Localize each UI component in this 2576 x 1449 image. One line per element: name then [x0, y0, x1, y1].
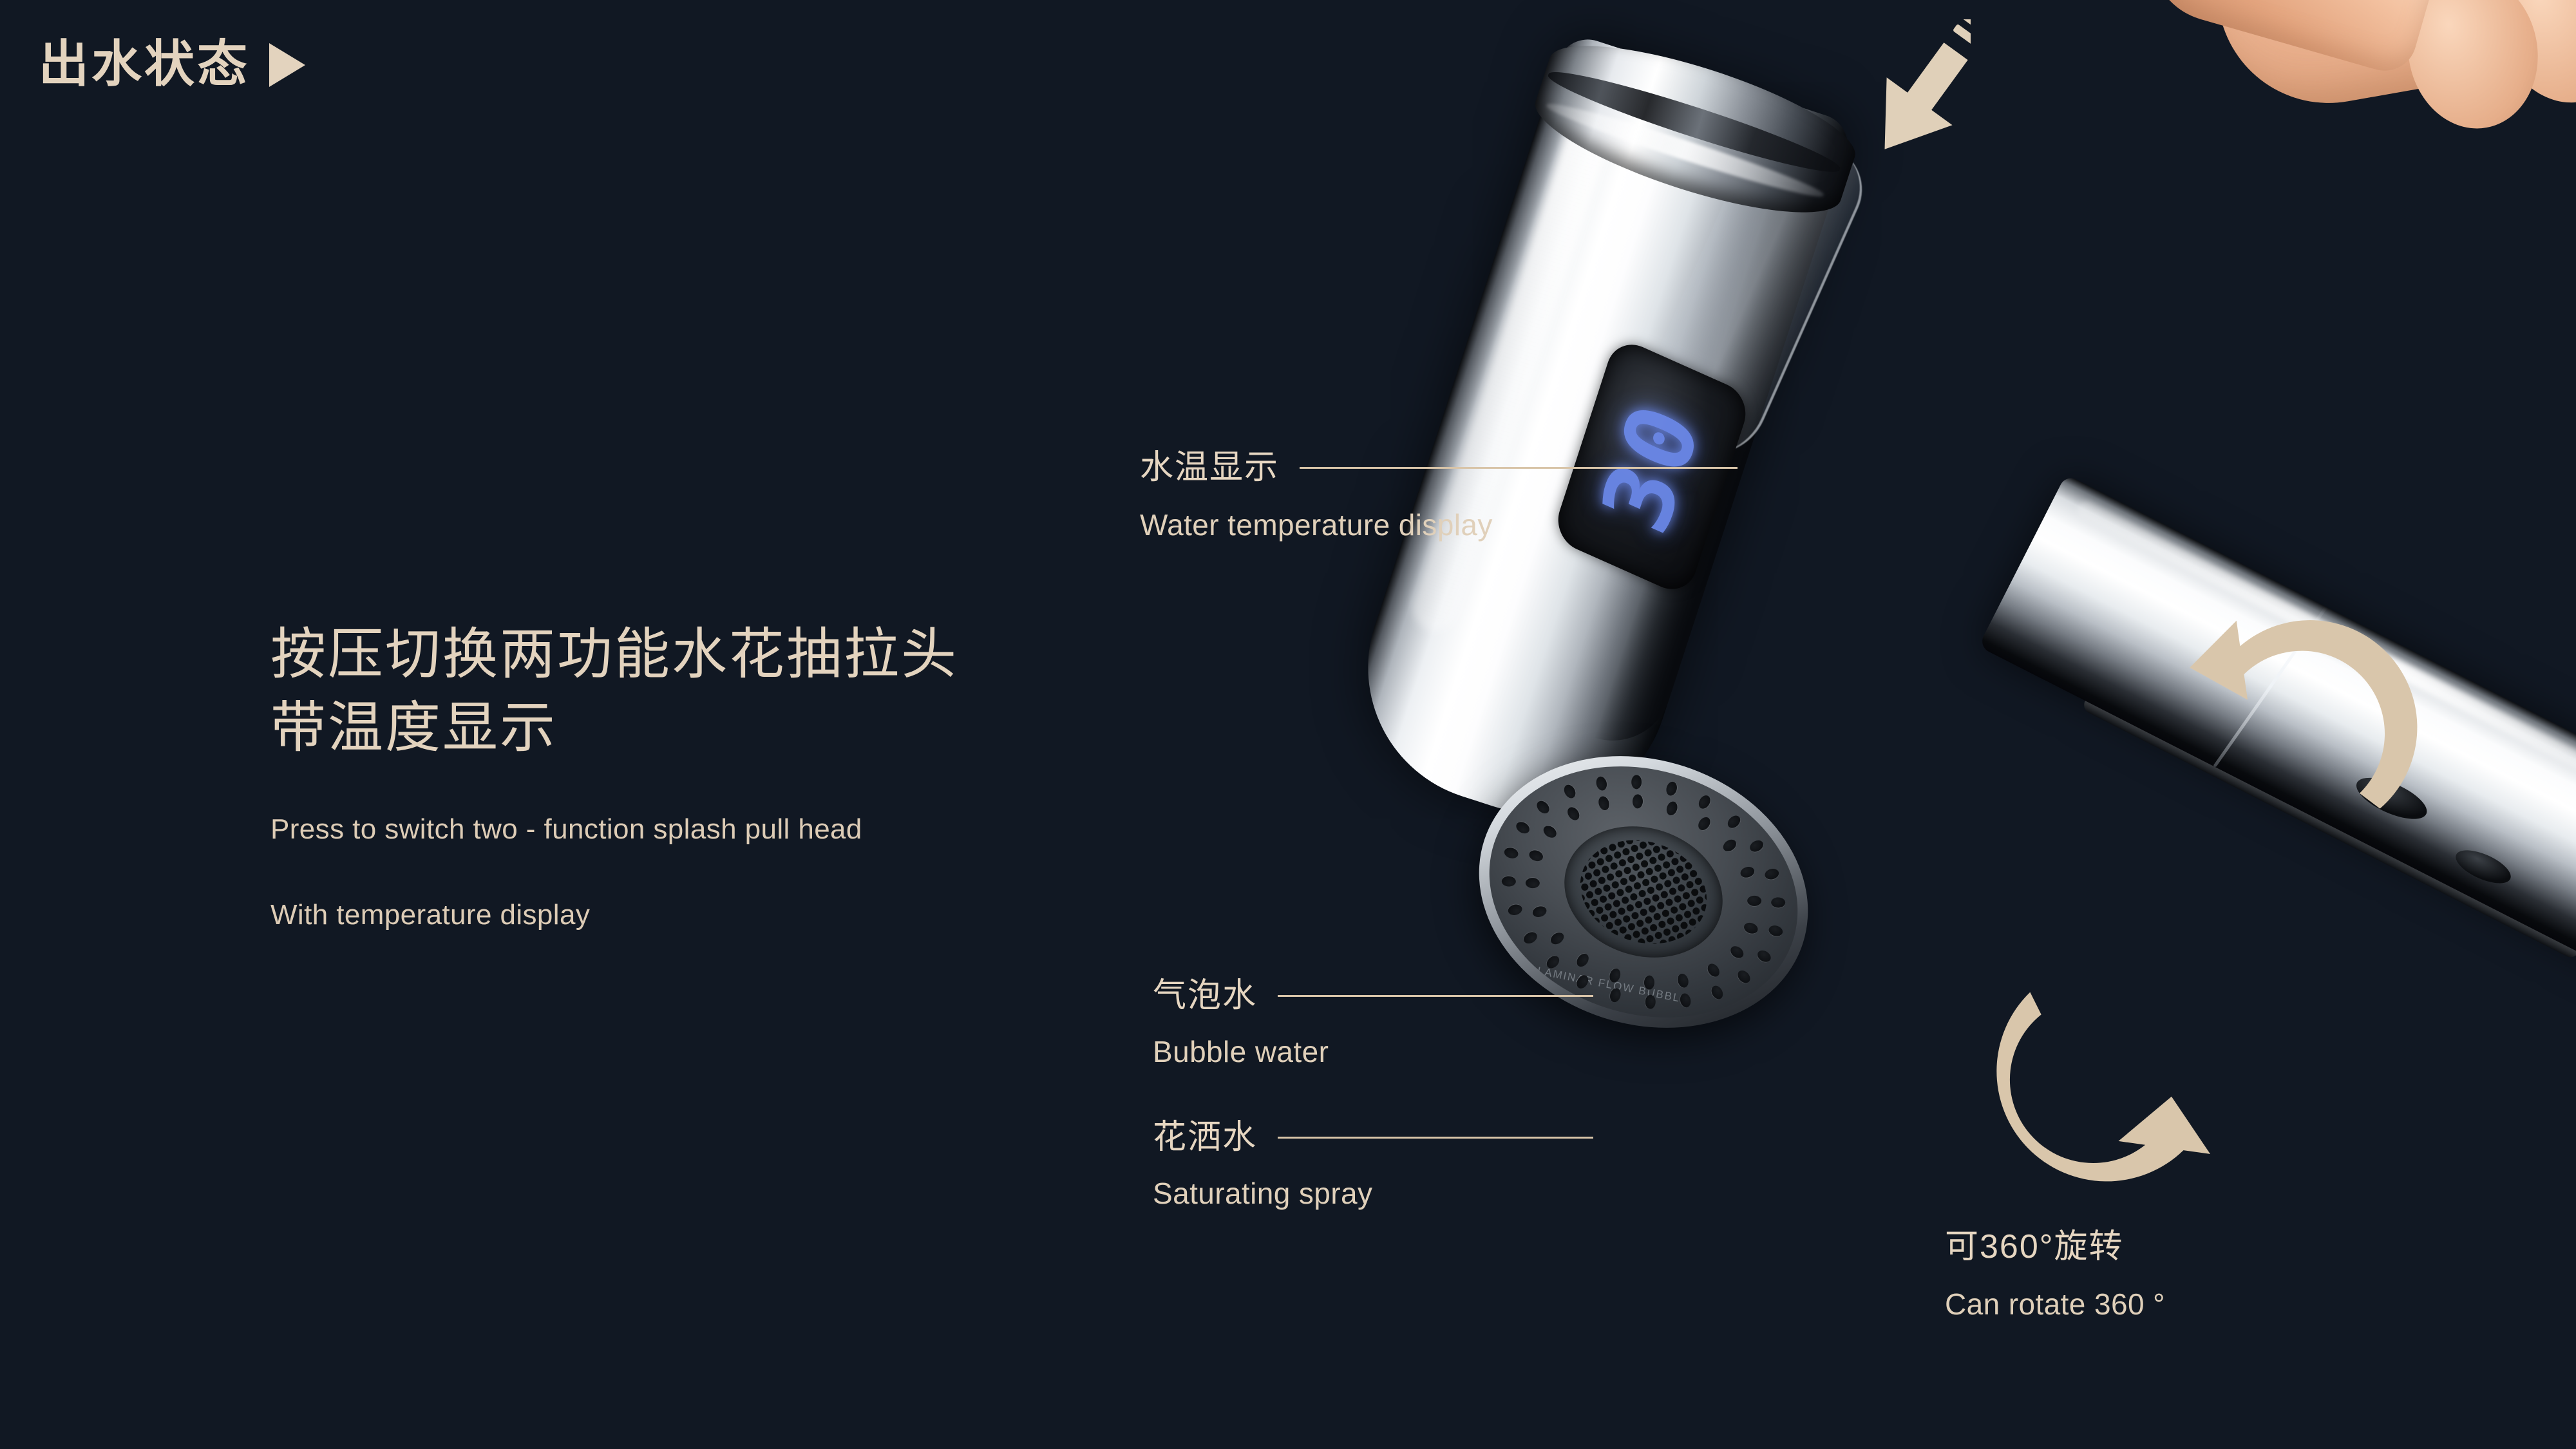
spray-hole: [1525, 878, 1539, 888]
spray-hole: [1764, 867, 1780, 880]
callout-water-temperature: 水温显示 Water temperature display: [1140, 451, 1738, 540]
spray-hole: [1531, 905, 1548, 919]
spray-hole: [1771, 897, 1785, 907]
leader-line: [1300, 467, 1738, 469]
spray-hole: [1565, 805, 1582, 822]
spray-hole: [1709, 983, 1725, 1001]
spray-hole: [1721, 837, 1739, 854]
aerator-ring: [1548, 806, 1740, 978]
spray-hole: [1743, 921, 1759, 935]
callout-label-cn: 气泡水: [1153, 979, 1257, 1012]
page-title: 出水状态: [39, 39, 250, 89]
spray-hole: [1562, 783, 1578, 800]
spray-hole: [1522, 930, 1539, 946]
spray-hole: [1736, 969, 1753, 986]
spray-hole: [1728, 943, 1745, 960]
callout-label-en: Saturating spray: [1153, 1179, 1593, 1208]
headline-cn-line2: 带温度显示: [270, 692, 958, 765]
press-down-arrow-icon: [1823, 19, 1971, 167]
spray-hole: [1696, 815, 1712, 833]
product-feature-banner: 30 LAMINAR FLOW BUBBLE: [0, 0, 2576, 1449]
spray-hole: [1542, 823, 1559, 840]
callout-label-en: Can rotate 360 °: [1945, 1289, 2165, 1319]
spray-hole: [1514, 820, 1531, 836]
copy-block: 按压切换两功能水花抽拉头 带温度显示 Press to switch two -…: [270, 618, 958, 935]
spray-hole: [1747, 895, 1761, 905]
spray-hole: [1528, 849, 1544, 863]
spray-hole: [1748, 838, 1765, 855]
rotate-arrow-down-icon: [1977, 979, 2248, 1224]
spray-hole: [1725, 813, 1743, 831]
rotate-arrow-up-icon: [2170, 560, 2441, 831]
arm-vent-icon: [2451, 844, 2515, 890]
spray-hole: [1665, 781, 1678, 797]
play-triangle-icon: [269, 43, 305, 87]
hand-graphic: [2048, 0, 2576, 193]
spray-hole: [1645, 994, 1656, 1009]
subhead-en-line1: Press to switch two - function splash pu…: [270, 810, 958, 849]
spray-hole: [1631, 775, 1642, 790]
spray-hole: [1705, 961, 1722, 979]
callout-bubble-water: 气泡水 Bubble water: [1153, 979, 1593, 1066]
spray-hole: [1697, 793, 1713, 811]
callout-rotate-360: 可360°旋转 Can rotate 360 °: [1945, 1230, 2165, 1319]
spray-hole: [1756, 948, 1773, 964]
spray-hole: [1676, 972, 1690, 989]
fingernail: [2139, 0, 2269, 12]
callout-cn-row: 花洒水: [1153, 1121, 1593, 1154]
spray-hole: [1548, 930, 1566, 947]
headline-cn-line1: 按压切换两功能水花抽拉头: [270, 618, 958, 692]
spray-hole: [1633, 794, 1643, 808]
spray-hole: [1679, 992, 1692, 1009]
spray-hole: [1595, 775, 1609, 791]
callout-label-en: Bubble water: [1153, 1037, 1593, 1066]
header: 出水状态: [39, 39, 305, 89]
spray-hole: [1501, 876, 1515, 886]
spray-hole: [1503, 846, 1520, 860]
bubble-mesh-icon: [1567, 824, 1720, 960]
leader-line: [1278, 995, 1593, 997]
spray-hole: [1768, 923, 1785, 937]
leader-line: [1278, 1137, 1593, 1139]
callout-label-cn: 花洒水: [1153, 1121, 1257, 1154]
callout-cn-row: 气泡水: [1153, 979, 1593, 1012]
callout-label-cn: 可360°旋转: [1945, 1230, 2165, 1264]
spray-hole: [1535, 798, 1552, 815]
callout-label-cn: 水温显示: [1140, 451, 1279, 484]
callout-cn-row: 水温显示: [1140, 451, 1738, 484]
spray-hole: [1507, 904, 1523, 917]
spray-hole: [1665, 800, 1680, 817]
spray-hole: [1739, 865, 1756, 879]
callout-label-en: Water temperature display: [1140, 510, 1738, 540]
spray-hole: [1575, 951, 1591, 969]
callout-saturating-spray: 花洒水 Saturating spray: [1153, 1121, 1593, 1208]
subhead-en-line2: With temperature display: [270, 895, 958, 935]
spray-hole: [1596, 795, 1611, 811]
